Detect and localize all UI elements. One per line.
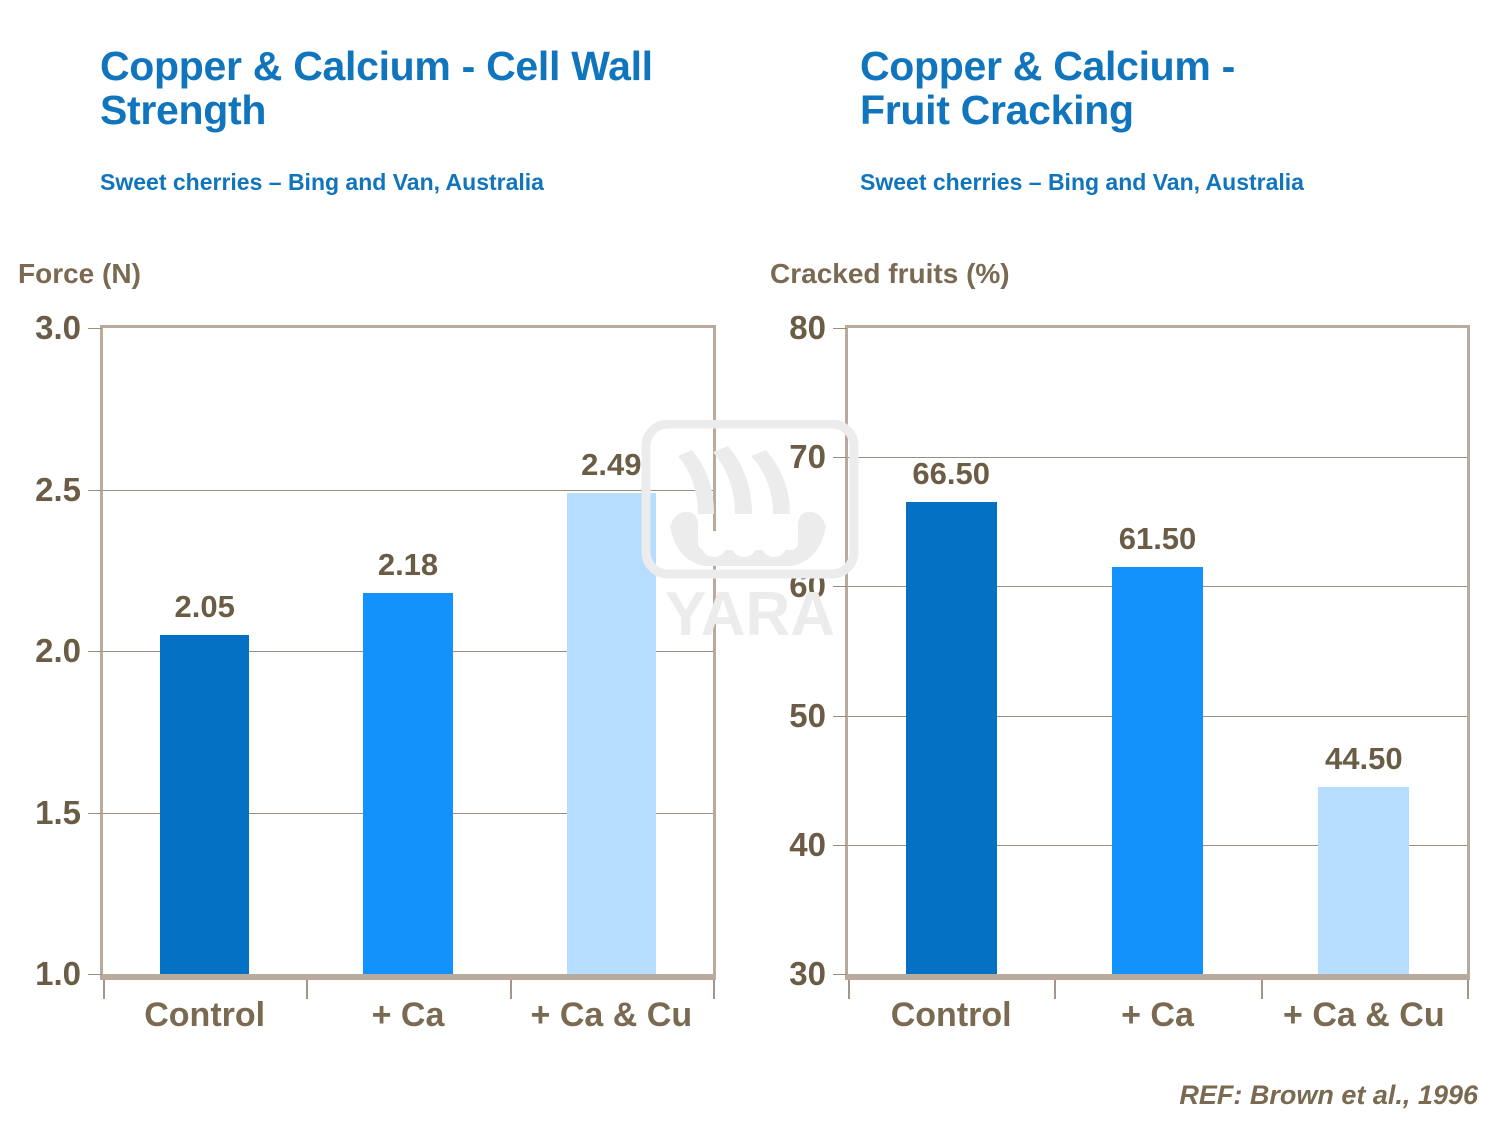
bar-value-label: 2.49 [581,447,641,483]
x-category-label: + Ca & Cu [531,996,693,1035]
y-tick-mark [833,586,847,587]
chart-subtitle-right: Sweet cherries – Bing and Van, Australia [860,168,1360,197]
x-category-label: Control [891,996,1012,1035]
bars-right [848,328,1467,974]
x-axis-line [100,977,716,980]
x-tick-mark [713,980,715,999]
y-tick-mark [88,651,102,652]
y-tick-label: 50 [730,697,826,735]
x-tick-mark [1261,980,1263,999]
y-tick-label: 40 [730,826,826,864]
plot-area-right [845,325,1470,977]
x-tick-mark [1467,980,1469,999]
x-tick-mark [848,980,850,999]
y-tick-label: 30 [730,955,826,993]
y-tick-label: 1.0 [0,955,81,993]
x-tick-mark [103,980,105,999]
x-category-label: + Ca [1121,996,1194,1035]
y-tick-label: 2.5 [0,471,81,509]
y-tick-mark [833,328,847,329]
y-tick-mark [833,716,847,717]
x-category-label: Control [144,996,265,1035]
bar [567,493,656,974]
y-tick-mark [88,974,102,975]
x-axis-line [845,977,1470,980]
bar [160,635,249,974]
y-tick-label: 60 [730,567,826,605]
y-tick-mark [88,490,102,491]
x-tick-mark [510,980,512,999]
y-axis-title-right: Cracked fruits (%) [770,258,1010,290]
y-axis-title-left: Force (N) [18,258,141,290]
bars-left [103,328,713,974]
chart-panel-left: Copper & Calcium - Cell Wall Strength Sw… [0,0,760,1125]
reference-text: REF: Brown et al., 1996 [1179,1080,1478,1111]
y-tick-mark [88,328,102,329]
x-tick-mark [306,980,308,999]
x-tick-mark [1054,980,1056,999]
y-tick-mark [833,974,847,975]
y-tick-label: 70 [730,438,826,476]
y-tick-mark [833,845,847,846]
y-tick-label: 2.0 [0,632,81,670]
bar-value-label: 61.50 [1119,521,1197,557]
chart-subtitle-left: Sweet cherries – Bing and Van, Australia [100,168,640,197]
y-tick-label: 3.0 [0,309,81,347]
bar-value-label: 2.18 [378,547,438,583]
bar-value-label: 44.50 [1325,741,1403,777]
bar [906,502,997,974]
bar [1112,567,1203,974]
chart-panel-right: Copper & Calcium - Fruit Cracking Sweet … [760,0,1500,1125]
chart-title-left: Copper & Calcium - Cell Wall Strength [100,44,700,133]
x-category-label: + Ca [372,996,445,1035]
bar-value-label: 2.05 [174,589,234,625]
y-tick-mark [88,813,102,814]
chart-title-right: Copper & Calcium - Fruit Cracking [860,44,1330,133]
y-tick-label: 80 [730,309,826,347]
bar-value-label: 66.50 [912,456,990,492]
plot-area-left [100,325,716,977]
bar [363,593,452,974]
x-category-label: + Ca & Cu [1283,996,1445,1035]
bar [1318,787,1409,974]
y-tick-mark [833,457,847,458]
y-tick-label: 1.5 [0,794,81,832]
